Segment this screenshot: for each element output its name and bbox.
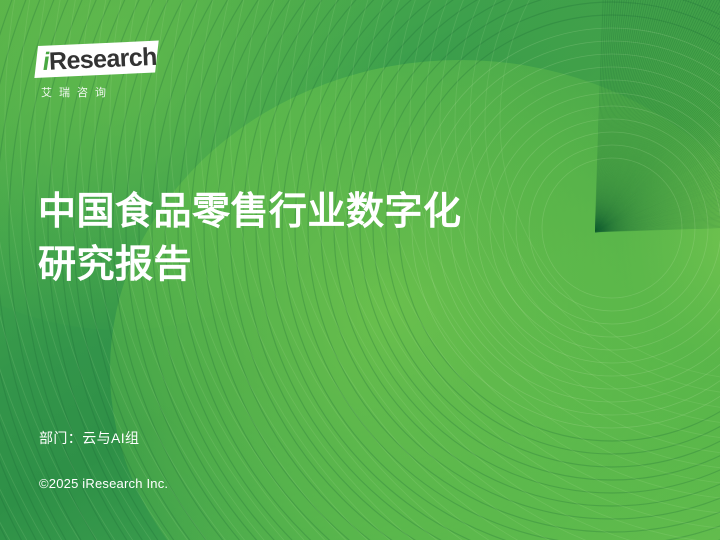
logo-word-research: Research xyxy=(48,43,157,76)
logo-subtitle-chinese: 艾瑞咨询 xyxy=(41,84,169,100)
iresearch-logo: iResearch 艾瑞咨询 xyxy=(38,46,178,104)
copyright-label: ©2025 iResearch Inc. xyxy=(39,476,168,491)
department-label: 部门：云与AI组 xyxy=(39,428,139,448)
logo-mark: iResearch xyxy=(38,46,158,80)
page-title: 中国食品零售行业数字化 研究报告 xyxy=(38,186,638,292)
report-cover-slide: iResearch 艾瑞咨询 中国食品零售行业数字化 研究报告 部门：云与AI组… xyxy=(0,0,720,540)
logo-wordmark: iResearch xyxy=(42,42,163,79)
page-title-line-2: 研究报告 xyxy=(38,239,638,292)
page-title-line-1: 中国食品零售行业数字化 xyxy=(38,186,638,239)
